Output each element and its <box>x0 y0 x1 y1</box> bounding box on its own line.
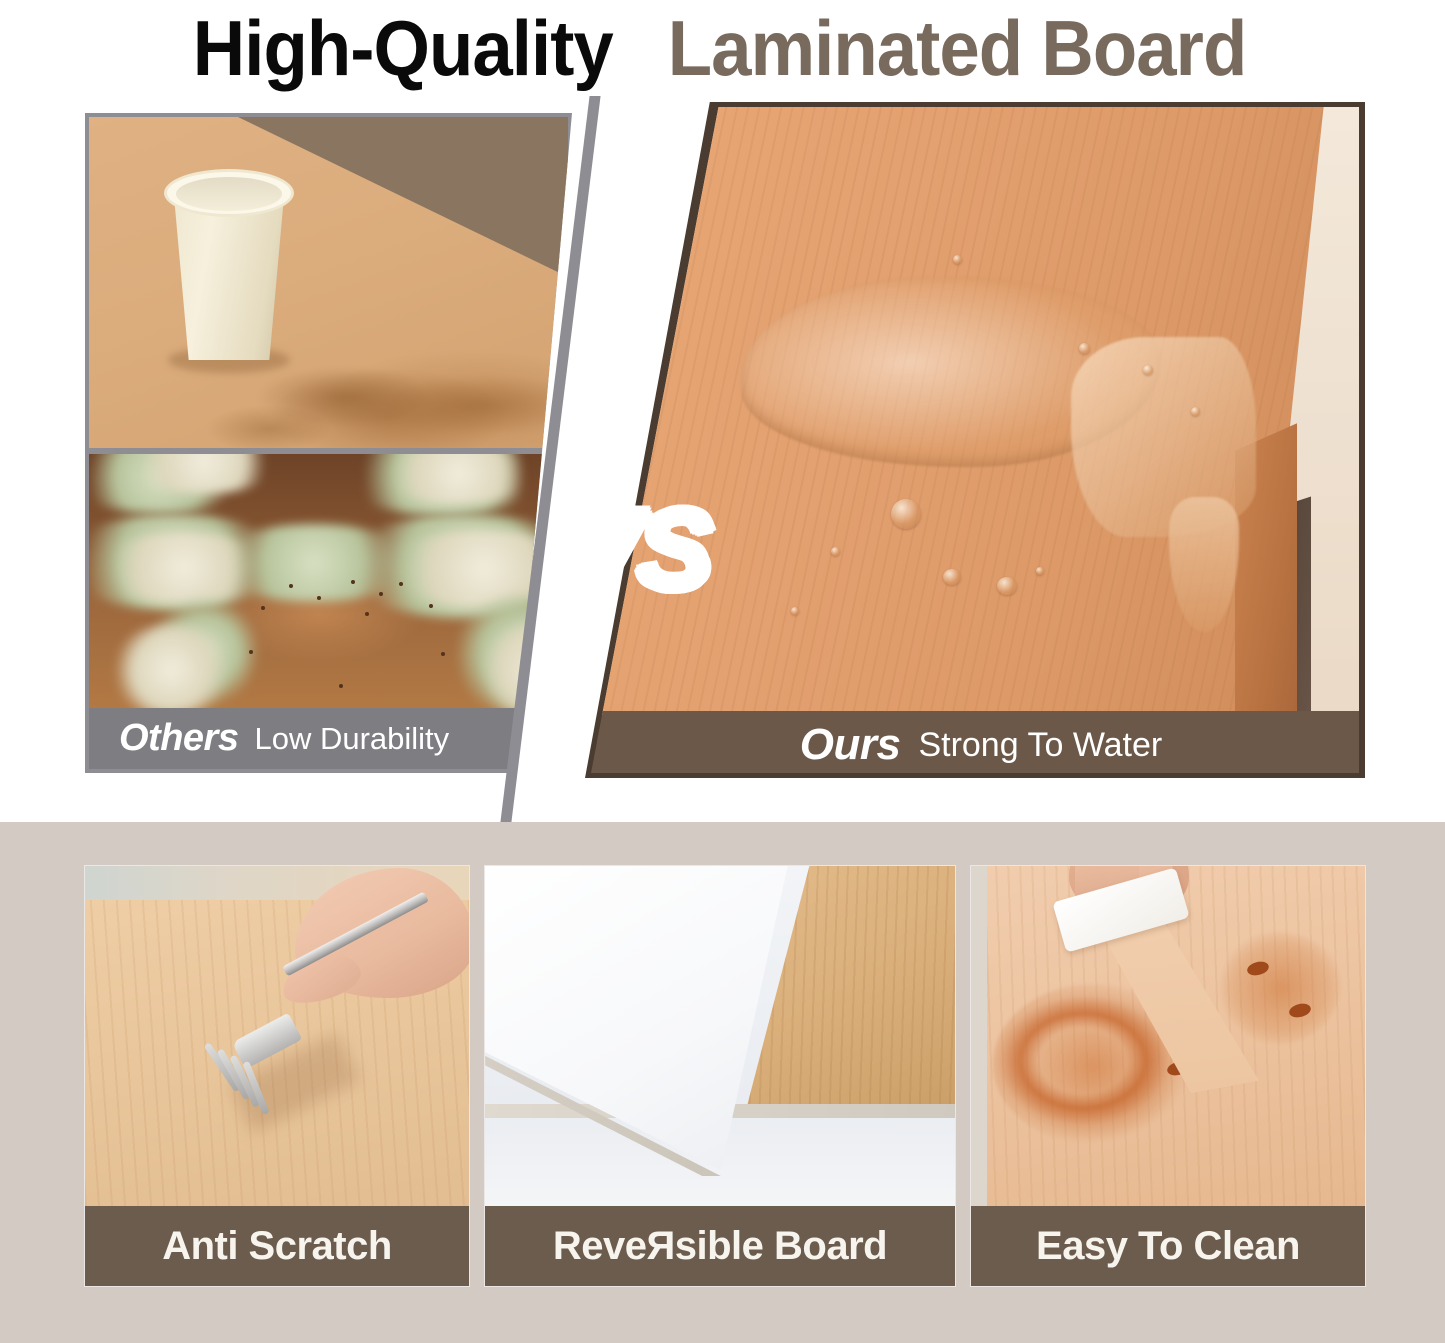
mold-patch <box>111 624 231 708</box>
water-droplet <box>1191 407 1200 416</box>
ours-subtitle: Strong To Water <box>918 726 1162 765</box>
spilled-liquid-stain <box>254 347 568 448</box>
ours-panel-inner: Ours Strong To Water <box>591 107 1359 773</box>
others-photo-stack <box>89 117 568 708</box>
vs-badge: VS <box>566 494 709 606</box>
mold-spore <box>379 592 383 596</box>
features-section: Anti Scratch ReveЯsible Board <box>0 822 1445 1343</box>
feature-label: Easy To Clean <box>1036 1224 1300 1269</box>
comparison-section: Others Low Durability <box>0 96 1445 822</box>
feature-card-easy-to-clean: Easy To Clean <box>971 866 1365 1286</box>
water-droplet <box>831 547 840 556</box>
others-caption-band: Others Low Durability <box>89 708 568 769</box>
mold-spore <box>289 584 293 588</box>
water-droplet <box>953 255 962 264</box>
cup-inner-opening <box>176 177 282 211</box>
water-droplet <box>891 499 921 529</box>
paper-cup <box>164 155 294 360</box>
water-droplet <box>1143 365 1153 375</box>
coffee-spill-photo <box>89 117 568 448</box>
left-edge-strip <box>971 866 987 1206</box>
mold-spore <box>249 650 253 654</box>
others-subtitle: Low Durability <box>254 721 449 757</box>
mold-growth-photo <box>89 454 568 708</box>
water-droplet <box>943 569 961 585</box>
feature-label: ReveЯsible Board <box>553 1224 887 1269</box>
page-title-primary: High-Quality <box>192 9 612 87</box>
mold-spore <box>317 596 321 600</box>
feature-label-band: ReveЯsible Board <box>485 1206 955 1286</box>
feature-card-reversible-board: ReveЯsible Board <box>485 866 955 1286</box>
feature-label-band: Easy To Clean <box>971 1206 1365 1286</box>
mold-spore <box>399 582 403 586</box>
anti-scratch-photo <box>85 866 469 1206</box>
water-droplet <box>997 577 1017 595</box>
feature-card-anti-scratch: Anti Scratch <box>85 866 469 1286</box>
water-droplet <box>791 607 799 615</box>
ours-panel: Ours Strong To Water <box>585 102 1365 778</box>
mold-spore <box>429 604 433 608</box>
water-droplet <box>1036 567 1044 575</box>
feature-label-band: Anti Scratch <box>85 1206 469 1286</box>
others-title: Others <box>119 717 238 760</box>
ours-caption-band: Ours Strong To Water <box>597 711 1359 773</box>
reversible-board-photo <box>485 866 955 1206</box>
feature-label: Anti Scratch <box>162 1224 392 1269</box>
mold-spore <box>441 652 445 656</box>
mold-spore <box>261 606 265 610</box>
water-droplet <box>1079 343 1090 354</box>
others-panel: Others Low Durability <box>85 113 572 773</box>
mold-spore <box>351 580 355 584</box>
ours-title: Ours <box>800 720 901 770</box>
mold-spore <box>339 684 343 688</box>
water-resistant-board-photo <box>591 107 1359 715</box>
easy-to-clean-photo <box>971 866 1365 1206</box>
page-title-secondary: Laminated Board <box>668 9 1247 87</box>
mold-spore <box>365 612 369 616</box>
page-title: High-Quality Laminated Board <box>0 0 1445 96</box>
